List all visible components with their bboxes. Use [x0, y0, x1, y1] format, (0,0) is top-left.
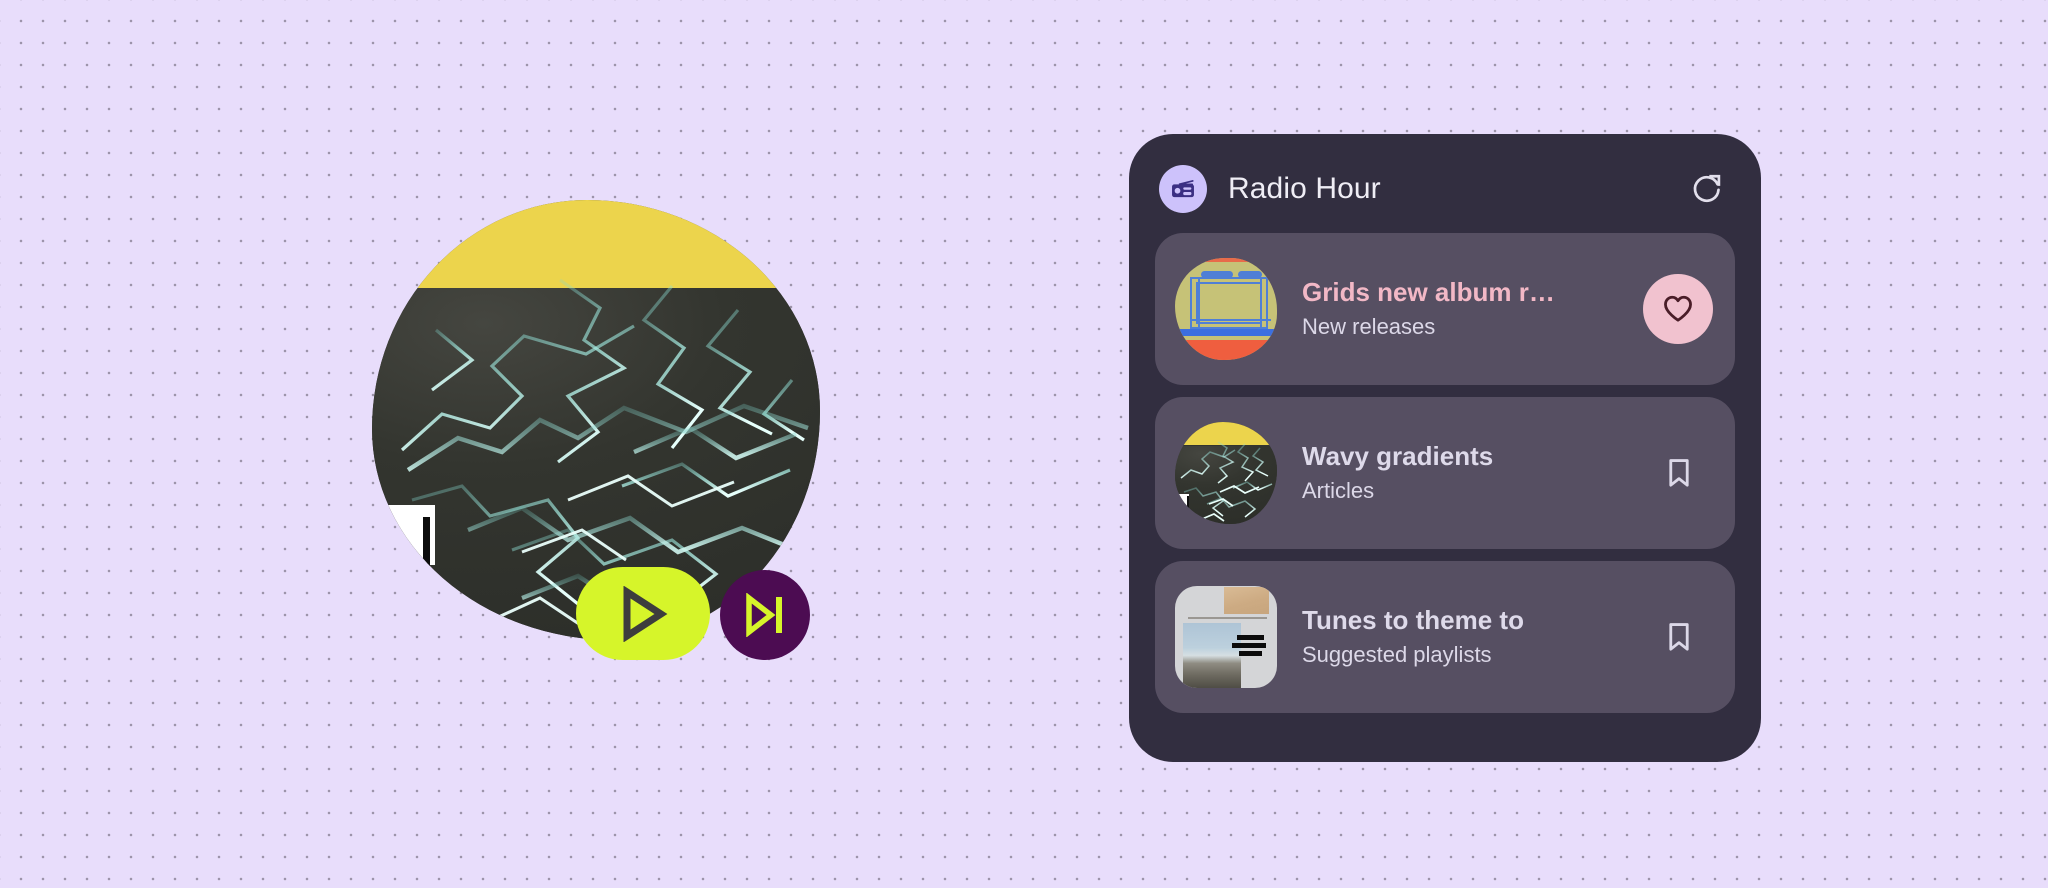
skip-next-icon — [744, 593, 786, 637]
list-item-text: Tunes to theme to Suggested playlists — [1302, 605, 1645, 669]
artwork-corner-mark — [379, 505, 441, 581]
radio-item-list: Grids new album r… New releases — [1155, 233, 1735, 713]
list-item[interactable]: Tunes to theme to Suggested playlists — [1155, 561, 1735, 713]
list-item[interactable]: Grids new album r… New releases — [1155, 233, 1735, 385]
play-button[interactable] — [576, 567, 710, 660]
grid-album-thumbnail — [1175, 258, 1277, 360]
list-item[interactable]: Wavy gradients Articles — [1155, 397, 1735, 549]
like-button[interactable] — [1643, 274, 1713, 344]
heart-icon — [1662, 294, 1694, 324]
wavy-gradients-thumbnail — [1175, 422, 1277, 524]
refresh-button[interactable] — [1685, 167, 1729, 211]
list-item-subtitle: Suggested playlists — [1302, 642, 1637, 668]
play-triangle-icon — [617, 586, 669, 642]
list-item-text: Wavy gradients Articles — [1302, 441, 1645, 505]
skip-next-button[interactable] — [720, 570, 810, 660]
radio-hour-widget: Radio Hour — [1129, 134, 1761, 762]
list-item-title: Grids new album r… — [1302, 277, 1635, 308]
radio-icon — [1159, 165, 1207, 213]
bookmark-icon — [1664, 456, 1694, 490]
widget-header: Radio Hour — [1155, 156, 1735, 222]
bookmark-button[interactable] — [1645, 603, 1713, 671]
photo-collage-thumbnail — [1175, 586, 1277, 688]
widget-title: Radio Hour — [1228, 172, 1381, 206]
list-item-title: Tunes to theme to — [1302, 605, 1637, 636]
bookmark-button[interactable] — [1645, 439, 1713, 507]
bookmark-icon — [1664, 620, 1694, 654]
list-item-text: Grids new album r… New releases — [1302, 277, 1643, 341]
list-item-subtitle: New releases — [1302, 314, 1635, 340]
list-item-title: Wavy gradients — [1302, 441, 1637, 472]
refresh-icon — [1690, 172, 1724, 206]
thumbnail-corner-mark — [1178, 494, 1192, 510]
list-item-subtitle: Articles — [1302, 478, 1637, 504]
